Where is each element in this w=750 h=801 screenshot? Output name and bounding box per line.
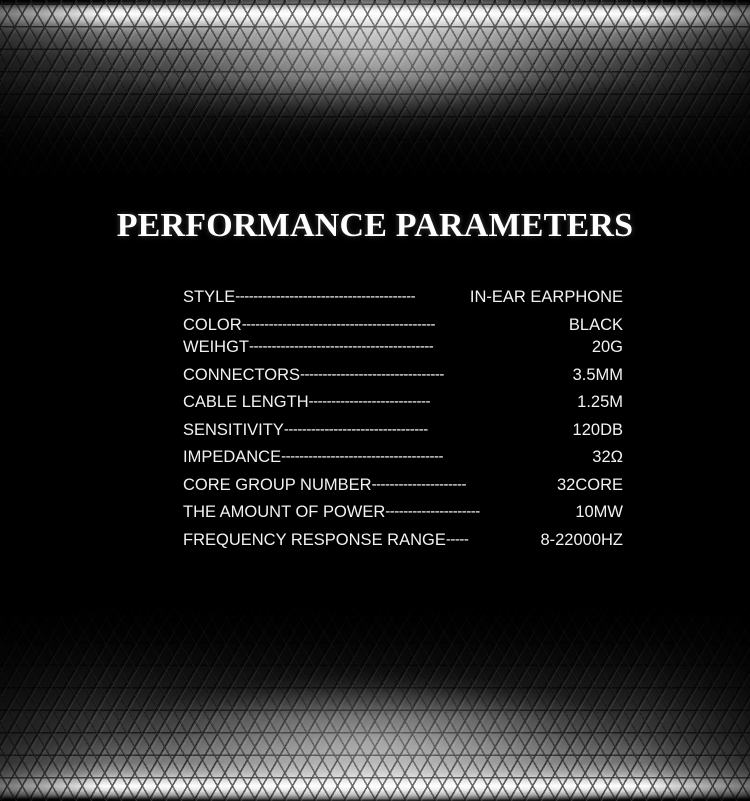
honeycomb-band-top: [0, 0, 750, 185]
spec-dots: --------------------------------: [300, 367, 573, 382]
spec-row: FREQUENCY RESPONSE RANGE ----- 8-22000HZ: [183, 532, 623, 549]
spec-dots: ---------------------------: [309, 394, 578, 409]
spec-dots: --------------------------------: [284, 422, 573, 437]
spec-value: 8-22000HZ: [540, 532, 623, 549]
spec-value: 10MW: [575, 504, 623, 521]
spec-dots: ----------------------------------------…: [242, 317, 569, 332]
spec-label: FREQUENCY RESPONSE RANGE: [183, 532, 446, 549]
metal-gradient-bottom: [0, 601, 750, 801]
spec-value: 120DB: [573, 422, 623, 439]
spec-row: CABLE LENGTH ---------------------------…: [183, 394, 623, 411]
spec-label: CABLE LENGTH: [183, 394, 309, 411]
page-title: PERFORMANCE PARAMETERS: [0, 185, 750, 245]
spec-label: WEIHGT: [183, 339, 249, 356]
spec-row: THE AMOUNT OF POWER --------------------…: [183, 504, 623, 521]
honeycomb-band-bottom: [0, 601, 750, 801]
spec-row: SENSITIVITY ----------------------------…: [183, 422, 623, 439]
spec-row: WEIHGT ---------------------------------…: [183, 339, 623, 356]
spec-row: CORE GROUP NUMBER --------------------- …: [183, 477, 623, 494]
spec-label: IMPEDANCE: [183, 449, 281, 466]
spec-value: IN-EAR EARPHONE: [470, 289, 623, 306]
spec-row: CONNECTORS -----------------------------…: [183, 367, 623, 384]
spec-label: CORE GROUP NUMBER: [183, 477, 372, 494]
spec-value: 1.25M: [577, 394, 623, 411]
spec-value: BLACK: [569, 317, 623, 334]
metal-gradient-top: [0, 0, 750, 185]
spec-row: COLOR ----------------------------------…: [183, 317, 623, 334]
spec-list: STYLE ----------------------------------…: [183, 289, 623, 548]
spec-value: 32Ω: [592, 449, 623, 466]
spec-label: SENSITIVITY: [183, 422, 284, 439]
spec-label: STYLE: [183, 289, 235, 306]
spec-label: COLOR: [183, 317, 242, 334]
spec-dots: -----: [446, 532, 541, 547]
spec-row: IMPEDANCE ------------------------------…: [183, 449, 623, 466]
spec-dots: ------------------------------------: [281, 449, 592, 464]
spec-dots: ----------------------------------------…: [249, 339, 592, 354]
spec-dots: ---------------------: [372, 477, 557, 492]
spec-label: CONNECTORS: [183, 367, 300, 384]
spec-content: PERFORMANCE PARAMETERS STYLE -----------…: [0, 185, 750, 601]
spec-label: THE AMOUNT OF POWER: [183, 504, 385, 521]
spec-dots: ----------------------------------------: [235, 289, 470, 304]
spec-value: 32CORE: [557, 477, 623, 494]
spec-dots: ---------------------: [385, 504, 575, 519]
product-spec-banner: PERFORMANCE PARAMETERS STYLE -----------…: [0, 0, 750, 801]
spec-value: 3.5MM: [573, 367, 623, 384]
spec-value: 20G: [592, 339, 623, 356]
spec-row: STYLE ----------------------------------…: [183, 289, 623, 306]
